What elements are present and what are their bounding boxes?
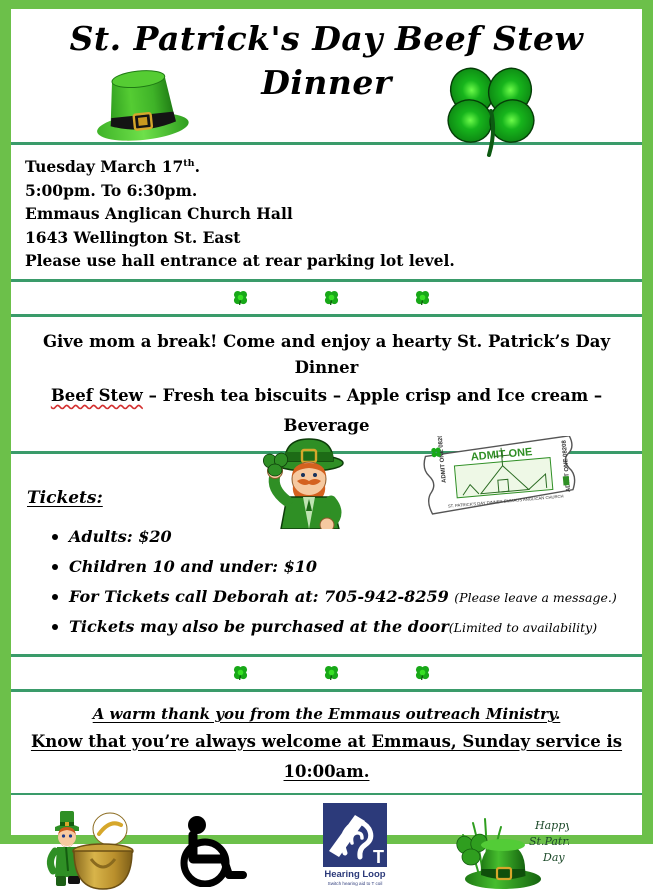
shamrock-icon — [324, 290, 339, 305]
svg-text:Day: Day — [542, 851, 565, 864]
header-section: St. Patrick's Day Beef Stew Dinner — [11, 9, 642, 142]
thanks-line-1: A warm thank you from the Emmaus outreac… — [11, 701, 642, 727]
tickets-heading: Tickets: — [27, 488, 103, 508]
list-item: Tickets may also be purchased at the doo… — [69, 612, 636, 642]
list-item-text: Adults: $20 — [69, 527, 172, 546]
thanks-line-2: Know that you’re always welcome at Emmau… — [11, 727, 642, 787]
list-item-text: For Tickets call Deborah at: 705-942-825… — [69, 587, 454, 606]
title-line-1: St. Patrick's Day Beef Stew — [70, 19, 584, 58]
event-time: 5:00pm. To 6:30pm. — [25, 179, 642, 203]
shamrock-icon — [324, 665, 339, 680]
flyer-sheet: St. Patrick's Day Beef Stew Dinner — [11, 9, 642, 835]
list-item-note: (Please leave a message.) — [454, 590, 616, 605]
admit-one-ticket-graphic: ADMIT ONE ADMIT ONE 08208 ADMIT ONE 0820… — [418, 436, 583, 528]
event-date-period: . — [195, 157, 200, 176]
meal-main-item: Beef Stew — [51, 386, 143, 405]
event-details: Tuesday March 17th. 5:00pm. To 6:30pm. E… — [11, 145, 642, 279]
shamrock-icon — [415, 290, 430, 305]
page-title: St. Patrick's Day Beef Stew Dinner — [11, 17, 642, 105]
leprechaun-icon — [253, 437, 358, 529]
svg-text:Happy: Happy — [534, 819, 569, 832]
list-item: For Tickets call Deborah at: 705-942-825… — [69, 582, 636, 612]
leprechaun-pot-of-gold-icon — [33, 801, 137, 893]
shamrock-icon — [233, 290, 248, 305]
list-item-note: (Limited to availability) — [449, 620, 597, 635]
hearing-loop-label: Hearing Loop — [324, 869, 385, 880]
svg-text:T: T — [373, 847, 384, 867]
list-item: Children 10 and under: $10 — [69, 552, 636, 582]
meal-tagline: Give mom a break! Come and enjoy a heart… — [11, 329, 642, 381]
list-item-text: Tickets may also be purchased at the doo… — [69, 617, 449, 636]
footer-icon-row: T Hearing Loop Switch hearing aid to T c… — [11, 795, 642, 835]
happy-st-patricks-day-hat-icon: Happy St.Patrick's Day — [449, 801, 569, 893]
svg-text:St.Patrick's: St.Patrick's — [529, 835, 569, 848]
event-date-ordinal: th — [183, 158, 194, 169]
wheelchair-accessible-icon — [171, 807, 251, 887]
shamrock-divider-row-1 — [11, 282, 642, 314]
list-item-text: Children 10 and under: $10 — [69, 557, 317, 576]
event-address: 1643 Wellington St. East — [25, 226, 642, 250]
meal-menu-rest: – Fresh tea biscuits – Apple crisp and I… — [143, 386, 602, 435]
event-date-text: Tuesday March 17 — [25, 157, 183, 176]
shamrock-icon — [233, 665, 248, 680]
flyer-page: St. Patrick's Day Beef Stew Dinner — [0, 0, 653, 844]
thanks-section: A warm thank you from the Emmaus outreac… — [11, 692, 642, 793]
hearing-loop-icon: T Hearing Loop Switch hearing aid to T c… — [321, 803, 389, 889]
shamrock-icon — [415, 665, 430, 680]
event-entrance-note: Please use hall entrance at rear parking… — [25, 249, 642, 273]
meal-section: Give mom a break! Come and enjoy a heart… — [11, 317, 642, 451]
hearing-loop-sublabel: Switch hearing aid to T coil — [328, 881, 383, 886]
event-date: Tuesday March 17th. — [25, 152, 642, 179]
event-venue: Emmaus Anglican Church Hall — [25, 202, 642, 226]
tickets-list: Adults: $20 Children 10 and under: $10 F… — [45, 522, 636, 642]
shamrock-divider-row-2 — [11, 657, 642, 689]
title-line-2: Dinner — [11, 61, 642, 105]
meal-menu: Beef Stew – Fresh tea biscuits – Apple c… — [11, 381, 642, 441]
